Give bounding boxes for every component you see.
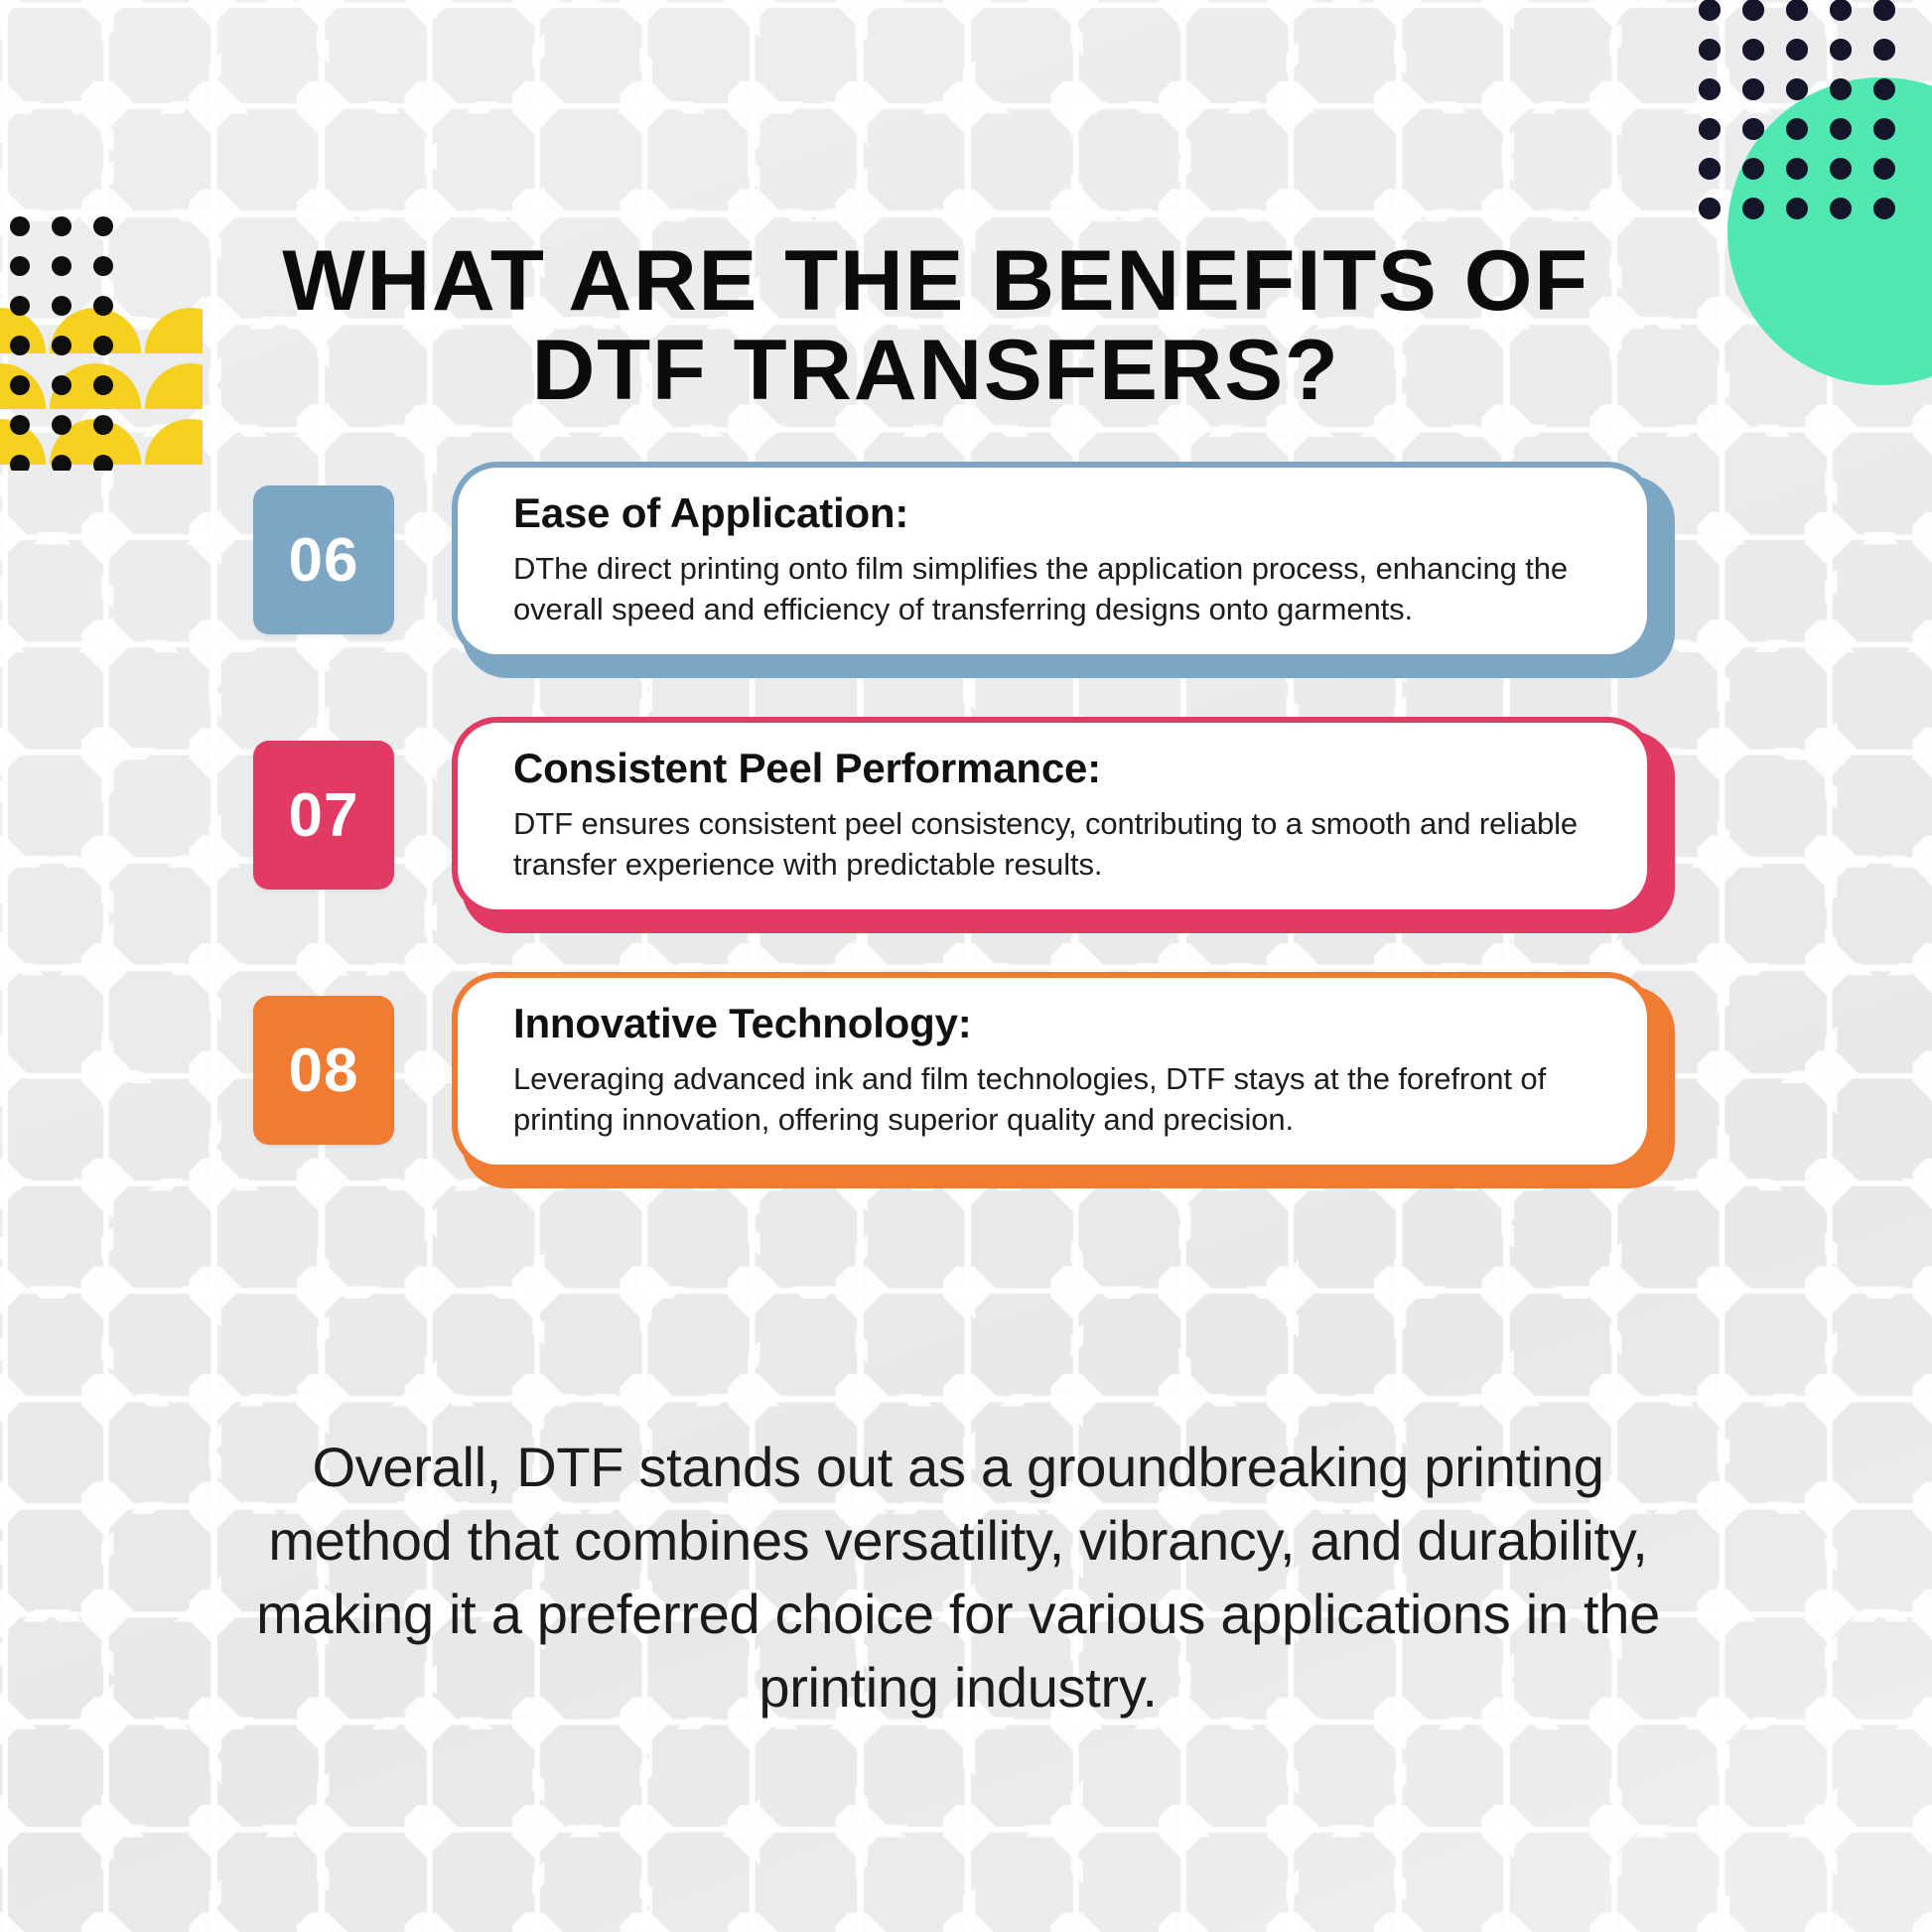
benefit-title: Consistent Peel Performance: (513, 745, 1607, 792)
benefit-title: Ease of Application: (513, 489, 1607, 537)
dot-grid-top-right-overlay-icon (1696, 0, 1924, 272)
benefit-description: DTF ensures consistent peel consistency,… (513, 804, 1595, 886)
infographic-poster: WHAT ARE THE BENEFITS OF DTF TRANSFERS? … (0, 0, 1932, 1932)
benefit-description: DThe direct printing onto film simplifie… (513, 549, 1595, 630)
benefit-row: Innovative Technology: Leveraging advanc… (0, 962, 1932, 1161)
benefit-row: Consistent Peel Performance: DTF ensures… (0, 707, 1932, 905)
benefit-card[interactable]: Consistent Peel Performance: DTF ensures… (452, 717, 1653, 915)
benefit-row: Ease of Application: DThe direct printin… (0, 452, 1932, 650)
yellow-dome-pattern-icon (0, 298, 203, 467)
benefit-number-badge: 06 (253, 485, 394, 634)
page-title: WHAT ARE THE BENEFITS OF DTF TRANSFERS? (207, 236, 1665, 416)
benefits-list: Ease of Application: DThe direct printin… (0, 452, 1932, 1161)
benefit-number-badge: 08 (253, 996, 394, 1145)
benefit-card[interactable]: Ease of Application: DThe direct printin… (452, 462, 1653, 660)
benefit-description: Leveraging advanced ink and film technol… (513, 1059, 1595, 1141)
closing-paragraph: Overall, DTF stands out as a groundbreak… (248, 1431, 1668, 1725)
benefit-card[interactable]: Innovative Technology: Leveraging advanc… (452, 972, 1653, 1171)
benefit-number-badge: 07 (253, 741, 394, 890)
dot-grid-top-right-icon (1696, 0, 1924, 272)
teal-circle-icon (1727, 77, 1932, 385)
dot-grid-left-icon (0, 212, 141, 471)
benefit-title: Innovative Technology: (513, 1000, 1607, 1047)
